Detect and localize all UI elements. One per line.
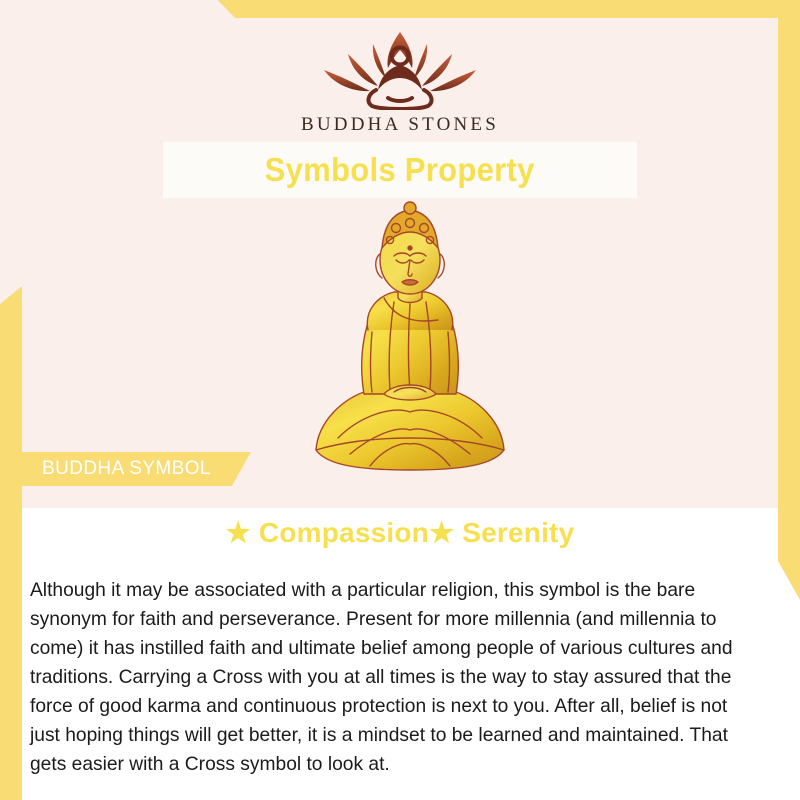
ribbon-left-icon xyxy=(0,286,22,800)
buddha-symbol-tag: BUDDHA SYMBOL xyxy=(14,452,251,486)
poster-root: BUDDHA STONES Symbols Property xyxy=(0,0,800,800)
brand-name: BUDDHA STONES xyxy=(0,114,800,136)
content-body-text: Although it may be associated with a par… xyxy=(30,576,761,779)
lotus-meditation-figure-icon xyxy=(310,24,490,110)
buddha-statue-image xyxy=(298,198,522,486)
content-panel: ★ Compassion★ Serenity Although it may b… xyxy=(0,508,800,800)
content-headline: ★ Compassion★ Serenity xyxy=(0,516,800,549)
seated-golden-buddha-statue-icon xyxy=(298,198,522,486)
title-banner: Symbols Property xyxy=(163,142,637,198)
brand-lockup: BUDDHA STONES xyxy=(0,24,800,136)
page-title: Symbols Property xyxy=(265,151,535,189)
buddha-symbol-tag-label: BUDDHA SYMBOL xyxy=(42,458,211,480)
